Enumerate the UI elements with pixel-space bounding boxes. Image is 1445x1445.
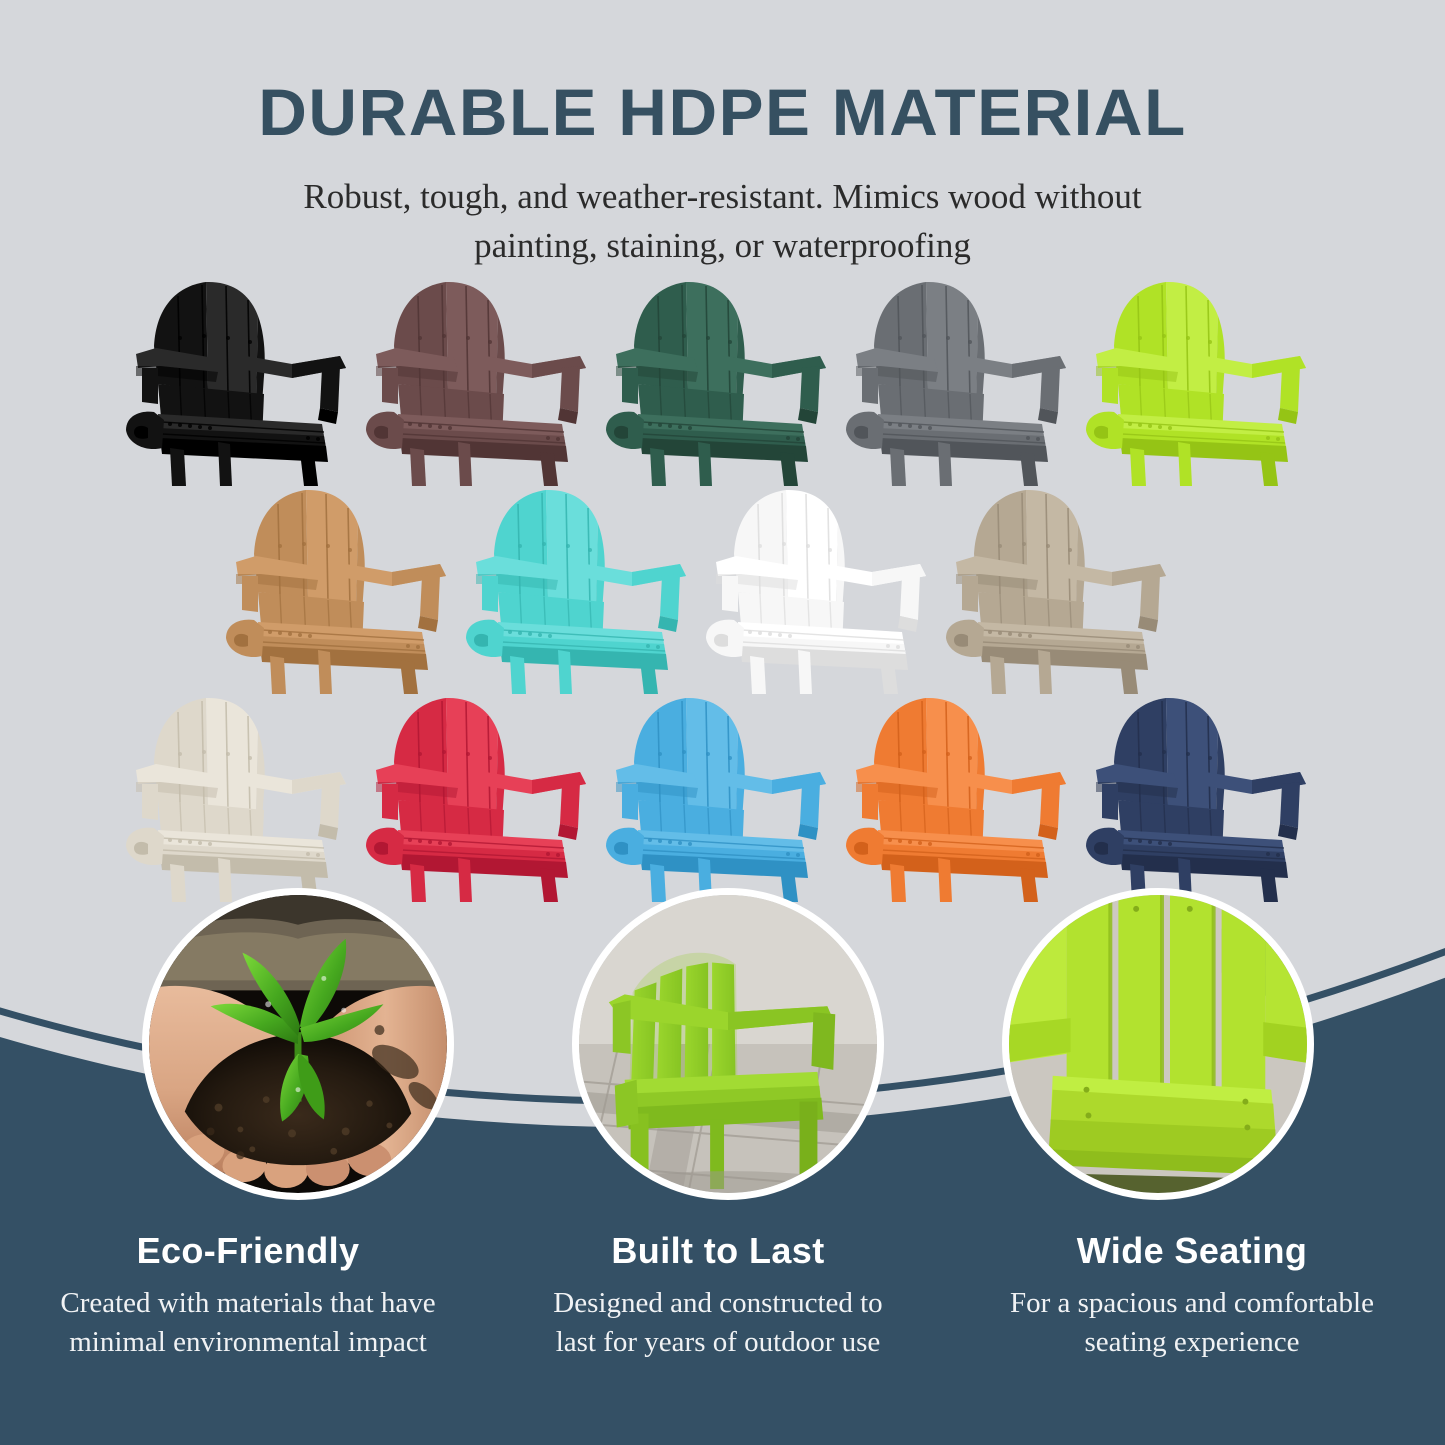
chair-swatch-brown[interactable] (362, 272, 602, 487)
chair-row-3 (0, 688, 1445, 898)
adirondack-chair-icon (602, 272, 842, 487)
adirondack-chair-icon (122, 688, 362, 903)
chair-row-1 (0, 272, 1445, 482)
chair-swatch-lime-green[interactable] (1082, 272, 1322, 487)
adirondack-chair-icon (1082, 688, 1322, 903)
chair-swatch-gray[interactable] (842, 272, 1082, 487)
feature-desc-line-2: seating experience (1085, 1326, 1300, 1358)
adirondack-chair-icon (1082, 272, 1322, 487)
subtitle-line-2: painting, staining, or waterproofing (474, 226, 971, 265)
adirondack-chair-icon (362, 272, 602, 487)
feature-desc-line-1: For a spacious and comfortable (1010, 1287, 1374, 1319)
chair-swatch-beige[interactable] (122, 688, 362, 903)
feature-eco-friendly: Eco-Friendly Created with materials that… (18, 1230, 478, 1362)
feature-title: Built to Last (488, 1230, 948, 1272)
feature-description: Designed and constructed to last for yea… (488, 1284, 948, 1362)
wide-seating-photo (1002, 888, 1314, 1200)
chair-swatch-white[interactable] (702, 480, 942, 695)
feature-desc-line-2: last for years of outdoor use (556, 1326, 881, 1358)
chair-swatch-dark-green[interactable] (602, 272, 842, 487)
feature-desc-line-1: Designed and constructed to (553, 1287, 882, 1319)
chair-swatch-red[interactable] (362, 688, 602, 903)
adirondack-chair-icon (362, 688, 602, 903)
chair-swatch-turquoise[interactable] (462, 480, 702, 695)
feature-photo-row (0, 888, 1445, 1218)
chair-swatch-taupe[interactable] (942, 480, 1182, 695)
feature-wide-seating: Wide Seating For a spacious and comforta… (962, 1230, 1422, 1362)
adirondack-chair-icon (122, 272, 362, 487)
feature-desc-line-2: minimal environmental impact (69, 1326, 427, 1358)
chair-swatch-orange[interactable] (842, 688, 1082, 903)
feature-title: Eco-Friendly (18, 1230, 478, 1272)
header-block: DURABLE HDPE MATERIAL Robust, tough, and… (0, 0, 1445, 271)
chair-swatch-teak[interactable] (222, 480, 462, 695)
adirondack-chair-icon (702, 480, 942, 695)
adirondack-chair-icon (462, 480, 702, 695)
adirondack-chair-icon (842, 272, 1082, 487)
page-subtitle: Robust, tough, and weather-resistant. Mi… (223, 147, 1223, 271)
feature-caption-row: Eco-Friendly Created with materials that… (0, 1230, 1445, 1430)
subtitle-line-1: Robust, tough, and weather-resistant. Mi… (303, 177, 1141, 216)
feature-description: Created with materials that have minimal… (18, 1284, 478, 1362)
built-to-last-photo (572, 888, 884, 1200)
chair-row-2 (0, 480, 1445, 690)
feature-built-to-last: Built to Last Designed and constructed t… (488, 1230, 948, 1362)
feature-title: Wide Seating (962, 1230, 1422, 1272)
feature-description: For a spacious and comfortable seating e… (962, 1284, 1422, 1362)
adirondack-chair-icon (942, 480, 1182, 695)
chair-swatch-black[interactable] (122, 272, 362, 487)
chair-swatch-navy-blue[interactable] (1082, 688, 1322, 903)
adirondack-chair-icon (222, 480, 462, 695)
adirondack-chair-icon (842, 688, 1082, 903)
page-title: DURABLE HDPE MATERIAL (0, 0, 1445, 147)
infographic-canvas: DURABLE HDPE MATERIAL Robust, tough, and… (0, 0, 1445, 1445)
chair-swatch-light-blue[interactable] (602, 688, 842, 903)
adirondack-chair-icon (602, 688, 842, 903)
eco-friendly-photo (142, 888, 454, 1200)
feature-desc-line-1: Created with materials that have (60, 1287, 435, 1319)
chair-color-grid (0, 272, 1445, 912)
